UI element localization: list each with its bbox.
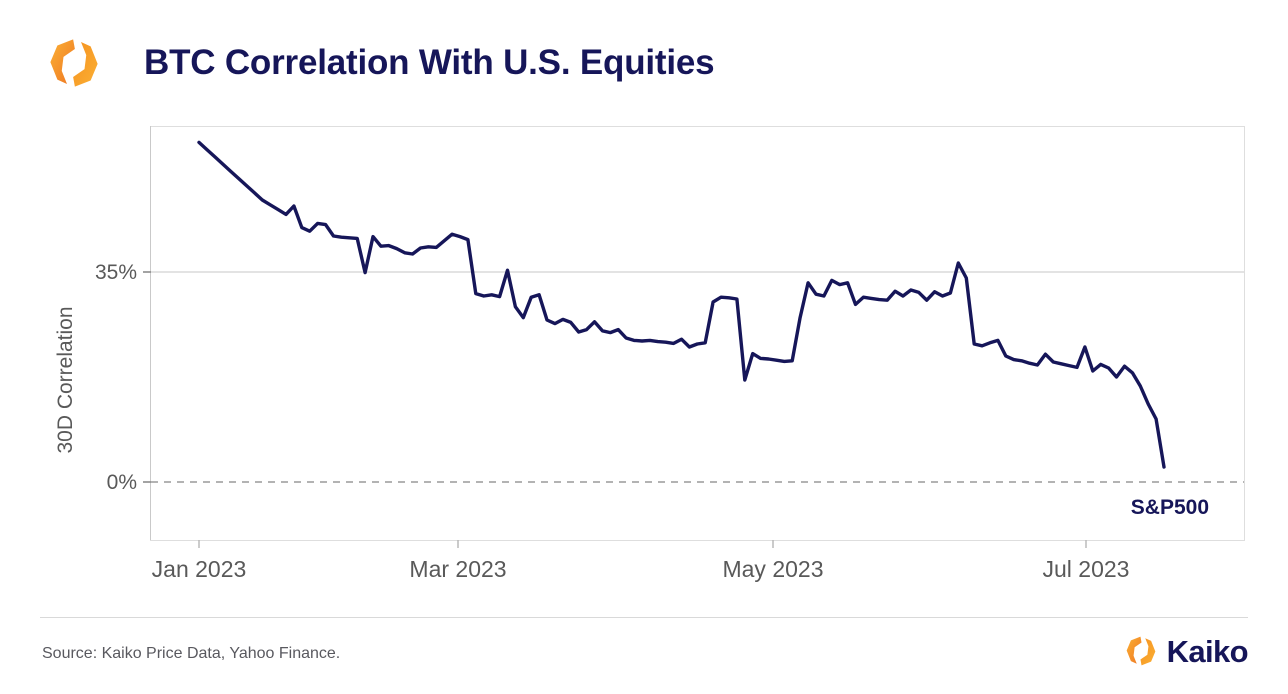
footer-brand: Kaiko xyxy=(1124,634,1248,668)
y-axis-title: 30D Correlation xyxy=(54,306,77,453)
chart-header: BTC Correlation With U.S. Equities xyxy=(0,0,1288,126)
x-tick-label-may: May 2023 xyxy=(722,556,823,582)
correlation-line-chart: 35% 0% 30D Correlation Jan 2023 Mar 2023… xyxy=(0,110,1288,590)
chart-container: 35% 0% 30D Correlation Jan 2023 Mar 2023… xyxy=(0,110,1288,590)
x-tick-label-jan: Jan 2023 xyxy=(152,556,247,582)
x-tick-label-mar: Mar 2023 xyxy=(409,556,506,582)
page-title: BTC Correlation With U.S. Equities xyxy=(144,43,714,83)
kaiko-logo-icon xyxy=(1124,634,1158,668)
series-label-sp500: S&P500 xyxy=(1131,496,1209,519)
y-tick-label-0: 0% xyxy=(107,471,137,494)
brand-wordmark: Kaiko xyxy=(1167,636,1248,667)
source-note: Source: Kaiko Price Data, Yahoo Finance. xyxy=(42,645,340,663)
chart-footer: Source: Kaiko Price Data, Yahoo Finance.… xyxy=(0,618,1288,694)
x-tick-label-jul: Jul 2023 xyxy=(1043,556,1130,582)
y-tick-label-35: 35% xyxy=(95,261,137,284)
kaiko-logo-icon xyxy=(46,35,102,91)
plot-area-border xyxy=(151,127,1245,541)
